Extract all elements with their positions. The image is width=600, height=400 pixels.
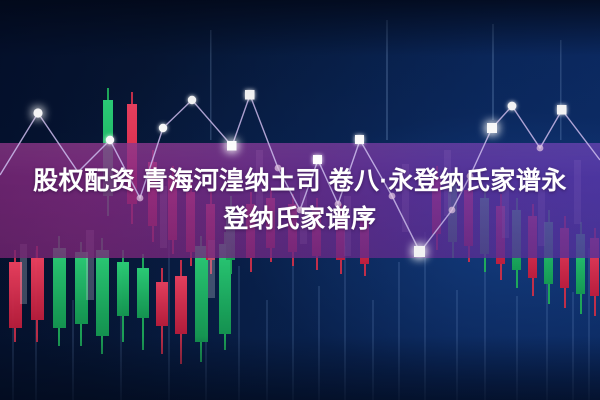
banner-title: 股权配资 青海河湟纳土司 卷八·永登纳氏家谱永 登纳氏家谱序: [0, 143, 600, 258]
title-line-2: 登纳氏家谱序: [223, 204, 376, 235]
banner-image: 股权配资 青海河湟纳土司 卷八·永登纳氏家谱永 登纳氏家谱序: [0, 0, 600, 400]
title-line-1: 股权配资 青海河湟纳土司 卷八·永登纳氏家谱永: [33, 166, 567, 197]
